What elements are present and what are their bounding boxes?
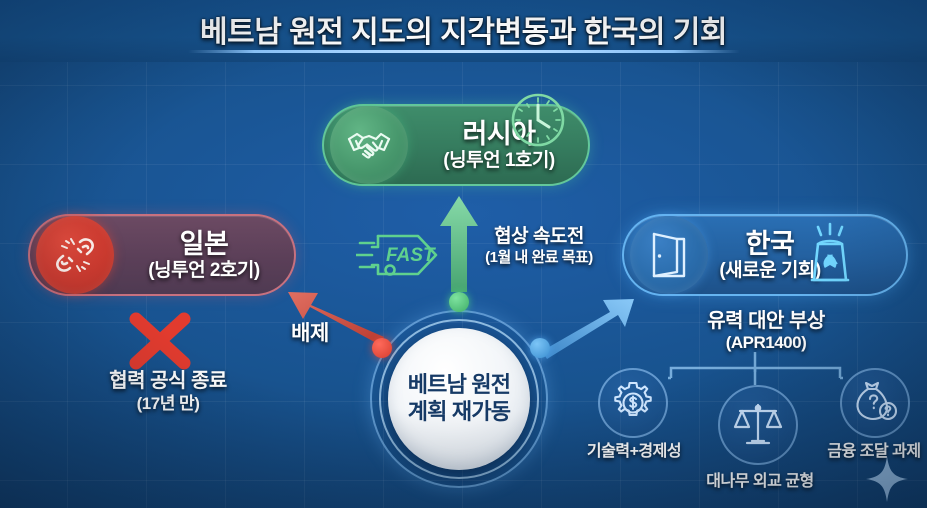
clock-icon	[506, 88, 570, 152]
handshake-icon	[343, 119, 395, 171]
terminated-line1: 협력 공식 종료	[109, 370, 227, 392]
blue-dot	[530, 338, 550, 358]
x-mark-icon	[126, 310, 194, 372]
gear-dollar-icon	[609, 379, 657, 427]
svg-text:FAST: FAST	[386, 245, 436, 266]
alternative-line1: 유력 대안 부상	[707, 310, 825, 332]
alternative-label: 유력 대안 부상 (APR1400)	[652, 310, 880, 352]
infographic-canvas: 베트남 원전 지도의 지각변동과 한국의 기회	[0, 0, 927, 508]
green-dot	[449, 292, 469, 312]
red-dot	[372, 338, 392, 358]
cooperation-terminated-label: 협력 공식 종료 (17년 만)	[58, 370, 278, 413]
alternative-line2: (APR1400)	[652, 333, 880, 352]
title-bar: 베트남 원전 지도의 지각변동과 한국의 기회	[0, 0, 927, 62]
hub-vietnam-nuclear-restart[interactable]: 베트남 원전 계획 재가동	[388, 328, 530, 470]
hub-text: 베트남 원전 계획 재가동	[408, 372, 511, 426]
speed-line1: 협상 속도전	[494, 226, 584, 247]
nuclear-plant-icon	[790, 214, 870, 294]
sub-node-financing-circle[interactable]	[840, 368, 910, 438]
japan-icon-circle	[36, 216, 114, 294]
arrow-hub-to-korea	[542, 299, 634, 359]
exclude-label: 배제	[264, 322, 356, 346]
title-underline	[188, 50, 740, 53]
sub-node-bamboo-diplomacy-circle[interactable]	[718, 385, 798, 465]
russia-icon-circle	[330, 106, 408, 184]
negotiation-speed-label: 협상 속도전 (1월 내 완료 목표)	[456, 226, 622, 266]
scales-icon	[730, 397, 786, 453]
money-bag-question-icon	[850, 378, 900, 428]
page-title: 베트남 원전 지도의 지각변동과 한국의 기회	[0, 7, 927, 51]
open-door-icon	[644, 228, 694, 282]
sub-node-bamboo-diplomacy-label: 대나무 외교 균형	[690, 467, 830, 491]
sparkle-icon	[866, 456, 908, 502]
bracket-connector	[668, 352, 843, 385]
fast-arrow-icon: FAST	[356, 228, 448, 284]
sub-node-tech-economy-label: 기술력+경제성	[576, 437, 692, 461]
speed-line2: (1월 내 완료 목표)	[456, 249, 622, 266]
hub-line2: 계획 재가동	[408, 399, 511, 424]
korea-icon-circle	[630, 216, 708, 294]
sub-node-tech-economy-circle[interactable]	[598, 368, 668, 438]
terminated-line2: (17년 만)	[58, 394, 278, 413]
broken-link-icon	[50, 230, 100, 280]
hub-line1: 베트남 원전	[408, 372, 511, 397]
